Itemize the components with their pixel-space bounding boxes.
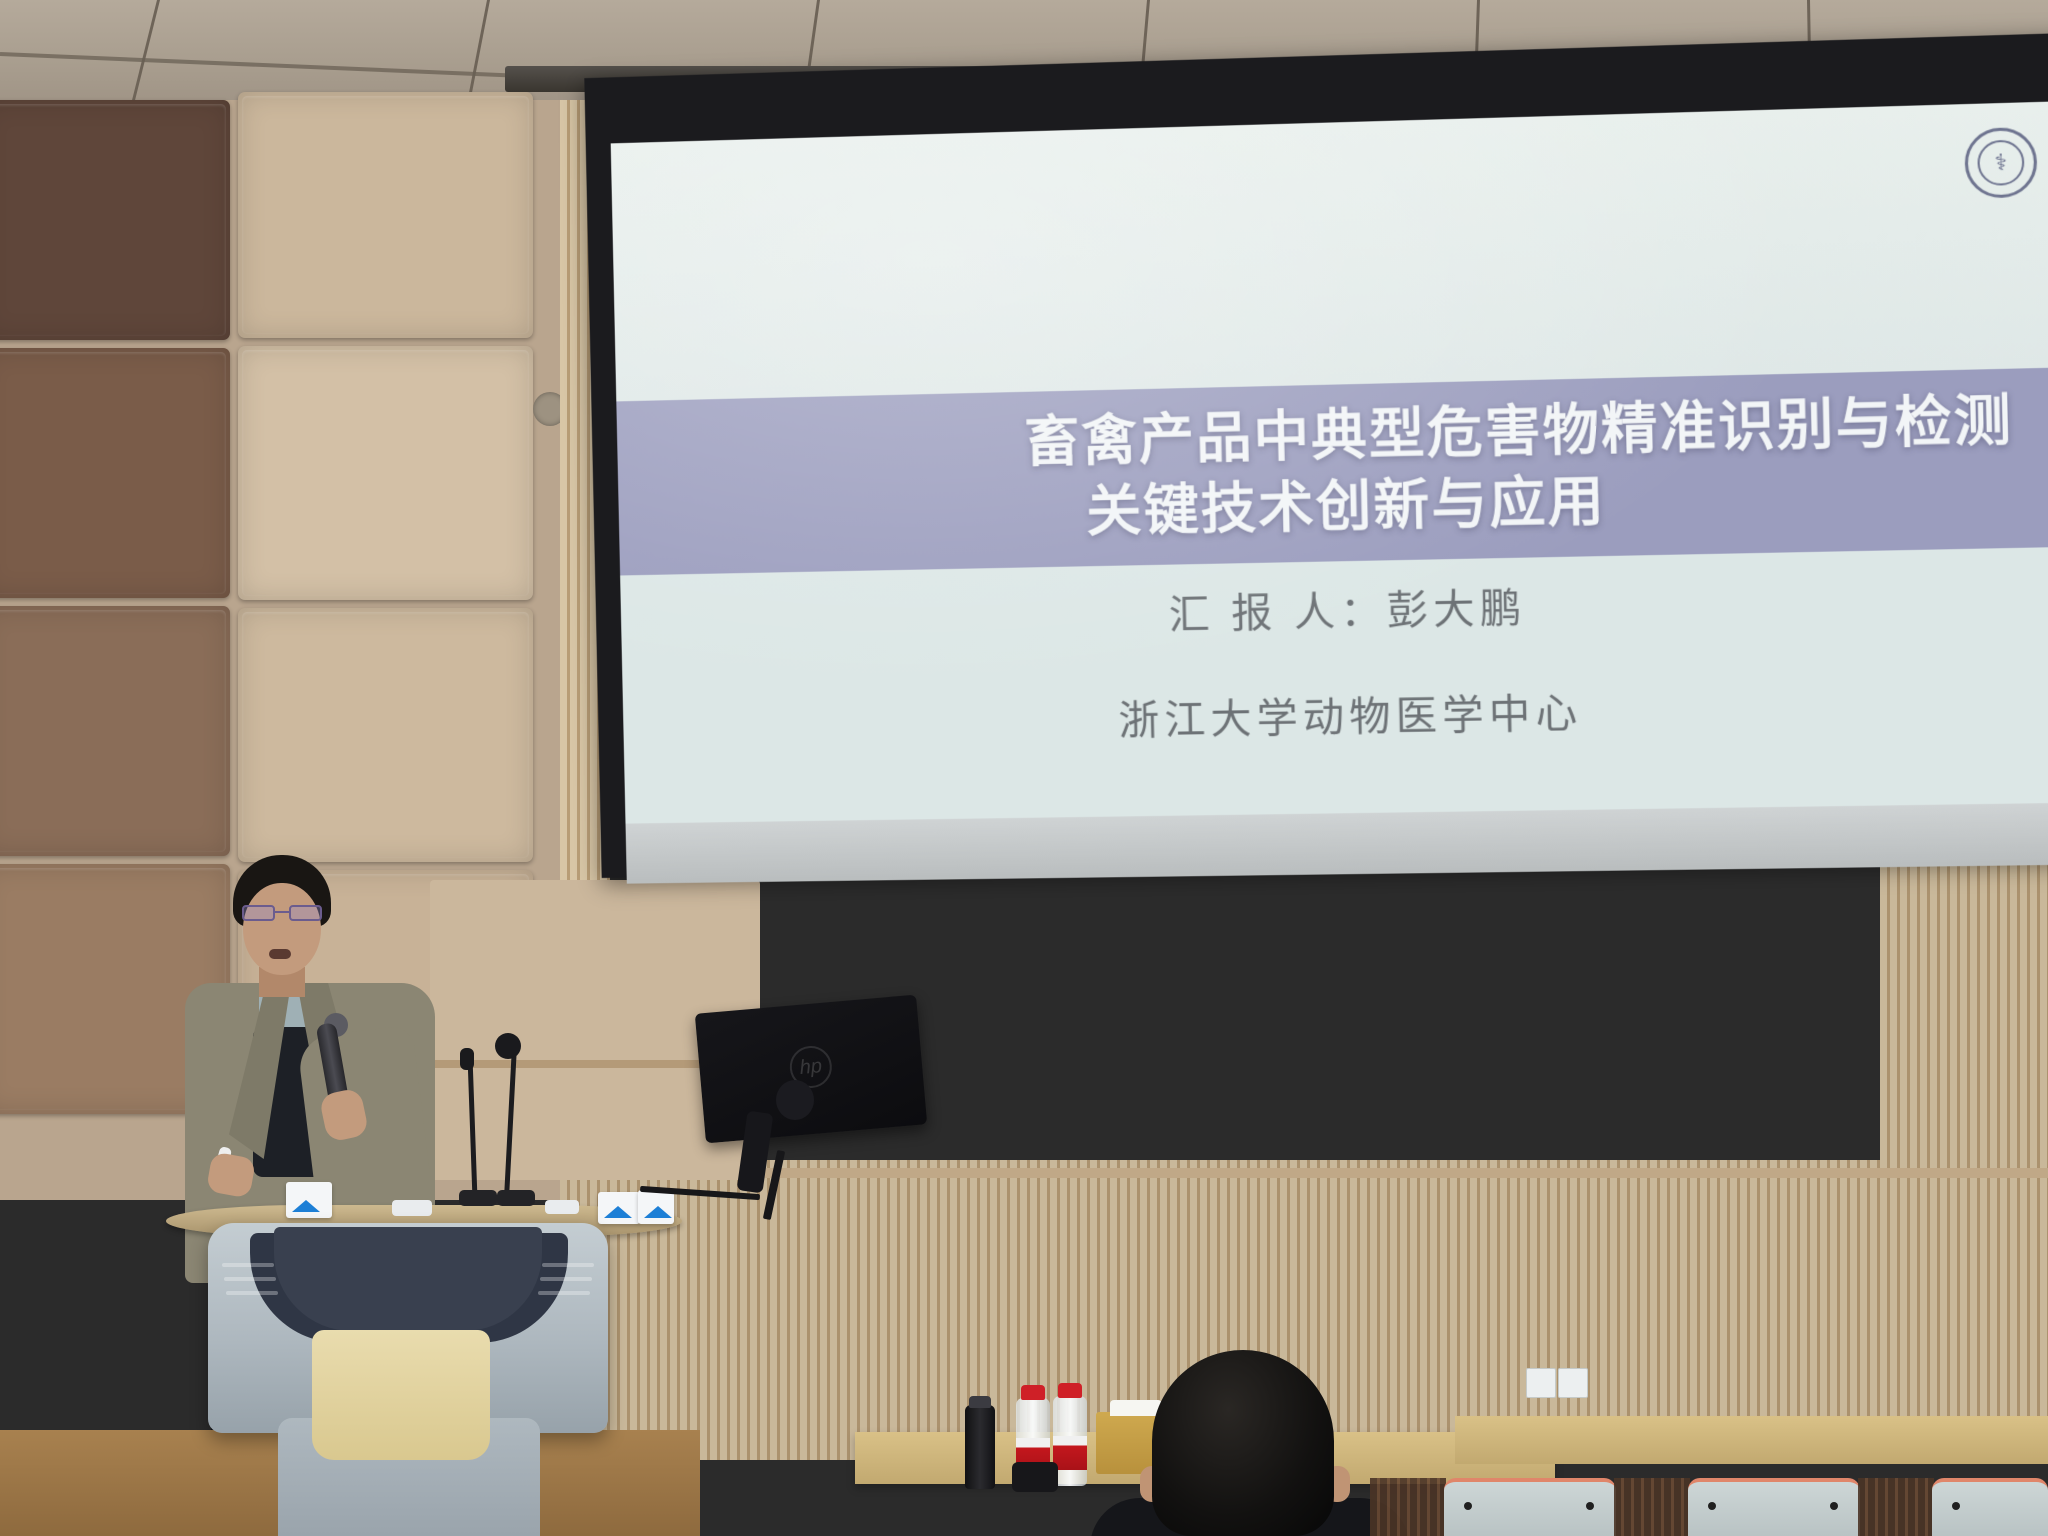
emblem-glyph: ⚕ (1977, 139, 2025, 186)
lectern-vent-slot (542, 1263, 594, 1267)
eyeglasses-icon (240, 905, 326, 921)
black-cup (1012, 1462, 1058, 1492)
lectern-vent-slot (224, 1277, 276, 1281)
name-card-logo-icon (644, 1206, 672, 1218)
slide-title-block: 畜禽产品中典型危害物精准识别与检测 关键技术创新与应用 (616, 367, 2048, 575)
slide-presenter: 汇 报 人：彭大鹏 (1168, 575, 1527, 641)
chair-perforated-panel (1614, 1478, 1690, 1536)
presentation-slide: ⚕ 畜禽产品中典型危害物精准识别与检测 关键技术创新与应用 汇 报 人：彭大鹏 … (611, 101, 2048, 824)
lecture-hall-photo: ⚕ 畜禽产品中典型危害物精准识别与检测 关键技术创新与应用 汇 报 人：彭大鹏 … (0, 0, 2048, 1536)
acoustic-panel (238, 92, 533, 338)
acoustic-panel (0, 606, 230, 856)
slide-top-area (611, 101, 2048, 402)
chair-perforated-panel (1858, 1478, 1934, 1536)
acoustic-panel (0, 100, 230, 340)
tissue-sheet (1110, 1400, 1162, 1416)
gooseneck-microphone-base (459, 1190, 497, 1206)
slide-affiliation: 浙江大学动物医学中心 (1118, 680, 1583, 747)
lectern-vent-slot (540, 1277, 592, 1281)
bottle-cap (1021, 1385, 1045, 1400)
lectern-vent-slot (538, 1291, 590, 1295)
auditorium-chair[interactable] (1444, 1478, 1616, 1536)
chair-rivet (1952, 1502, 1960, 1510)
name-card (598, 1192, 640, 1224)
presenter-mouth (269, 949, 291, 959)
name-card-logo-icon (292, 1200, 320, 1212)
lectern-front-inner-panel (274, 1227, 542, 1331)
chair-rivet (1586, 1502, 1594, 1510)
hp-monitor-rear: hp (695, 995, 927, 1144)
wall-trim (560, 1168, 2048, 1178)
gooseneck-microphone-base (497, 1190, 535, 1206)
lectern-wood-insert (312, 1330, 490, 1460)
acoustic-panel (0, 348, 230, 598)
audience-table (1455, 1416, 2048, 1464)
lens-left (242, 905, 275, 921)
gooseneck-microphone-capsule (460, 1048, 474, 1070)
wall-power-outlet[interactable] (1558, 1368, 1588, 1398)
chair-perforated-panel (1370, 1478, 1446, 1536)
projection-screen: ⚕ 畜禽产品中典型危害物精准识别与检测 关键技术创新与应用 汇 报 人：彭大鹏 … (584, 33, 2048, 878)
bottle-label (1053, 1436, 1087, 1470)
acoustic-panel (238, 608, 533, 862)
lens-right (289, 905, 322, 921)
presenter-face (243, 883, 321, 975)
glasses-bridge (275, 911, 289, 913)
monitor-mount-joint (776, 1080, 814, 1120)
chair-rivet (1830, 1502, 1838, 1510)
black-thermos (965, 1405, 995, 1489)
lectern-vent-slot (222, 1263, 274, 1267)
gooseneck-microphone-capsule (495, 1033, 521, 1059)
acoustic-panel (238, 346, 533, 600)
wall-power-outlet[interactable] (1526, 1368, 1556, 1398)
name-card-logo-icon (604, 1206, 632, 1218)
auditorium-chair[interactable] (1688, 1478, 1860, 1536)
lectern-vent-slot (226, 1291, 278, 1295)
slide-title-line-2: 关键技术创新与应用 (1086, 470, 1607, 546)
bottle-cap (1058, 1383, 1082, 1398)
slide-subtitle-block: 汇 报 人：彭大鹏 浙江大学动物医学中心 (620, 564, 2048, 755)
slide-title-line-1: 畜禽产品中典型危害物精准识别与检测 (1024, 390, 2014, 477)
name-card (286, 1182, 332, 1218)
desk-small-object (545, 1200, 579, 1214)
chair-rivet (1708, 1502, 1716, 1510)
audience-member-head (1152, 1350, 1334, 1536)
chair-rivet (1464, 1502, 1472, 1510)
water-bottle (1053, 1396, 1087, 1486)
auditorium-chair[interactable] (1932, 1478, 2048, 1536)
slide-surface: ⚕ 畜禽产品中典型危害物精准识别与检测 关键技术创新与应用 汇 报 人：彭大鹏 … (611, 101, 2048, 824)
desk-small-object (392, 1200, 432, 1216)
thermos-cap (969, 1396, 991, 1408)
name-card (638, 1190, 674, 1224)
